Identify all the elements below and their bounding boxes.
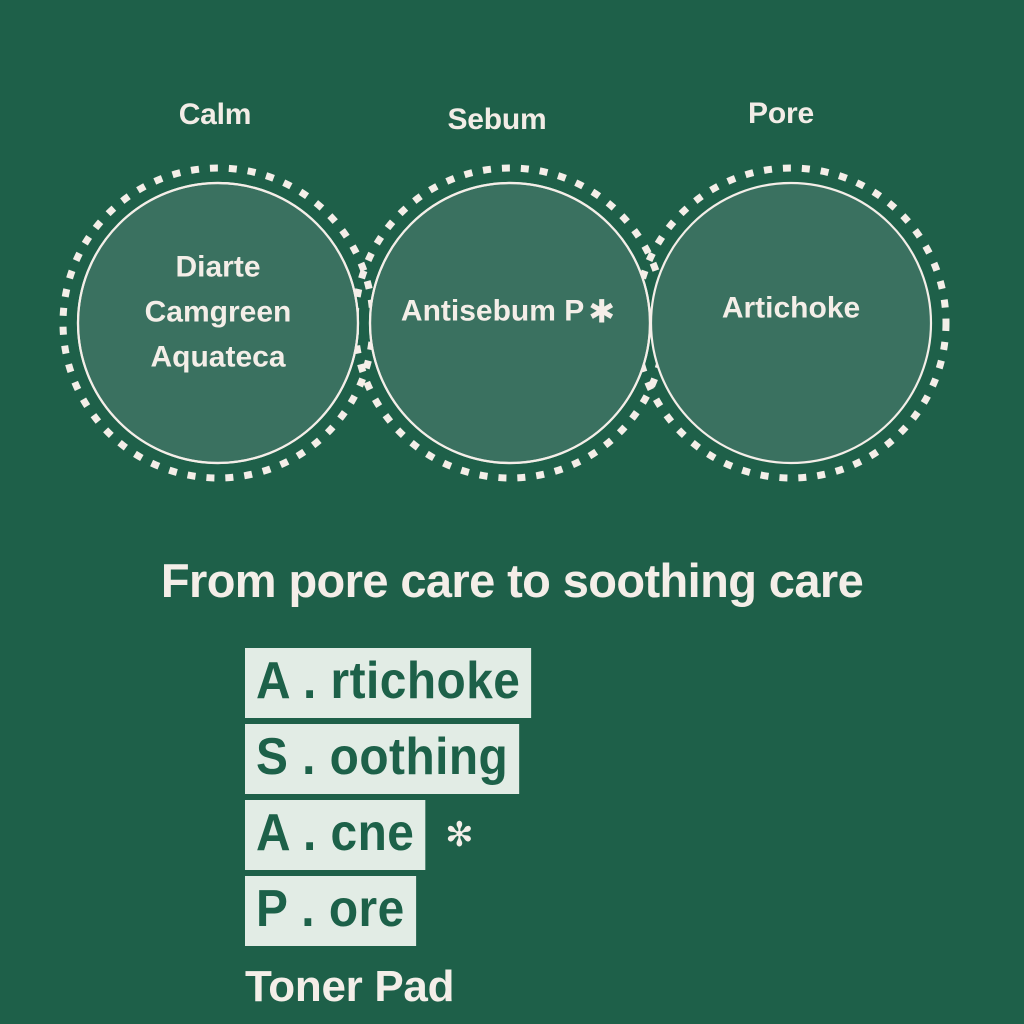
acronym-box: A . rtichoke: [245, 648, 531, 718]
circle-body-calm: Diarte Camgreen Aquateca: [145, 245, 292, 380]
acronym-initial: S: [256, 728, 288, 786]
acronym-row-artichoke: A . rtichoke: [245, 648, 556, 718]
circle-label-sebum: Sebum: [447, 103, 546, 137]
page-headline: From pore care to soothing care: [0, 553, 1024, 608]
acronym-box: P . ore: [245, 876, 416, 946]
acronym-box: A . cne: [245, 800, 425, 870]
acronym-dot: .: [301, 880, 315, 938]
acronym-rest: oothing: [330, 728, 509, 786]
circle-body-line: Antisebum P: [401, 295, 584, 328]
circle-body-line: Camgreen: [145, 290, 292, 335]
product-type-label: Toner Pad: [245, 962, 454, 1012]
acronym-dot: .: [303, 804, 317, 862]
acronym-row-pore: P . ore: [245, 876, 431, 946]
circle-body-sebum: Antisebum P✱: [401, 289, 615, 334]
circle-body-line: Diarte: [145, 245, 292, 290]
acronym-list: A . rtichoke S . oothing A . cne ✻ P . o…: [245, 648, 556, 946]
acronym-rest: cne: [331, 804, 415, 862]
poster-canvas: Calm Sebum Pore Diarte Camgreen Aquateca…: [0, 0, 1024, 1024]
acronym-rest: ore: [329, 880, 405, 938]
asterisk-icon: ✱: [588, 296, 615, 328]
acronym-initial: A: [256, 652, 289, 710]
acronym-dot: .: [302, 728, 316, 786]
acronym-rest: rtichoke: [331, 652, 521, 710]
acronym-row-soothing: S . oothing: [245, 724, 543, 794]
circle-body-line: Aquateca: [145, 335, 292, 380]
acronym-dot: .: [303, 652, 317, 710]
circle-label-pore: Pore: [748, 97, 814, 131]
circle-body-pore: Artichoke: [722, 286, 860, 331]
circle-body-line: Artichoke: [722, 292, 860, 325]
acronym-initial: P: [256, 880, 288, 938]
acronym-box: S . oothing: [245, 724, 519, 794]
venn-diagram: Calm Sebum Pore Diarte Camgreen Aquateca…: [0, 0, 1024, 520]
acronym-row-acne: A . cne ✻: [245, 800, 474, 870]
asterisk-icon: ✻: [445, 818, 474, 852]
circle-label-calm: Calm: [179, 98, 252, 132]
acronym-initial: A: [256, 804, 289, 862]
